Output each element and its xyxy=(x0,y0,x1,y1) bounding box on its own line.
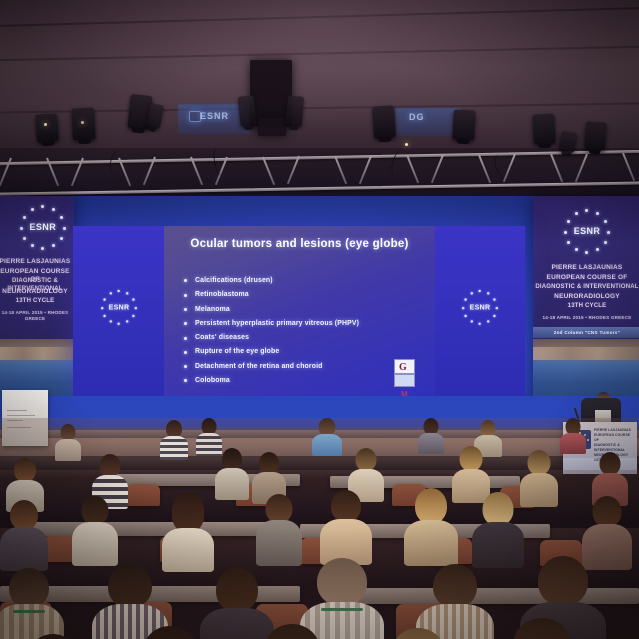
audience-member xyxy=(372,628,464,639)
audience-member xyxy=(312,418,342,454)
slide-bullet: Retinoblastoma xyxy=(183,288,433,302)
stage-light xyxy=(584,121,607,150)
audience-member xyxy=(418,418,444,452)
stage-light xyxy=(452,109,476,140)
person-head xyxy=(14,458,36,482)
lanyard xyxy=(321,608,363,611)
slide-logo-bottom-tile: M xyxy=(394,374,415,387)
lanyard xyxy=(13,610,45,613)
banner-left-line-5: 13TH CYCLE xyxy=(0,298,74,306)
audience-member xyxy=(0,568,64,639)
audience-member xyxy=(320,490,372,564)
person-head xyxy=(10,500,38,530)
projector-lens-housing xyxy=(258,118,286,136)
slide-bullet: Coats' diseases xyxy=(183,331,433,345)
stage-light-lamp-glow xyxy=(405,143,408,146)
banner-left-line-6: 14-18 APRIL 2015 • RHODES GREECE xyxy=(0,310,74,321)
person-head xyxy=(9,568,49,608)
person-head xyxy=(259,452,279,474)
person-torso xyxy=(560,433,586,454)
stage-light xyxy=(35,113,59,142)
person-head xyxy=(143,626,197,639)
esnr-wordmark: ESNR xyxy=(108,303,129,311)
screen-left-flank: ESNR xyxy=(73,226,164,396)
banner-left-line-4: NEURORADIOLOGY xyxy=(0,288,74,296)
person-head xyxy=(82,496,109,525)
person-torso xyxy=(312,434,342,456)
audience-member xyxy=(162,492,214,568)
person-head xyxy=(222,448,242,470)
truss-web xyxy=(287,156,300,185)
esnr-logo-left-banner: ESNR xyxy=(20,204,66,250)
slide-title: Ocular tumors and lesions (eye globe) xyxy=(164,238,435,250)
signage-panel-right xyxy=(395,108,461,136)
esnr-wordmark: ESNR xyxy=(574,226,601,236)
person-torso xyxy=(162,528,214,572)
person-head xyxy=(391,628,445,639)
audience-member xyxy=(256,494,302,564)
stage-light xyxy=(71,107,96,140)
audience-member xyxy=(560,418,586,452)
screen-right-flank: ESNR xyxy=(434,226,525,396)
banner-left: ESNR PIERRE LASJAUNIAS EUROPEAN COURSE O… xyxy=(0,196,74,411)
slide-surface: Ocular tumors and lesions (eye globe) Ca… xyxy=(164,226,435,396)
truss-web xyxy=(262,157,275,186)
person-head xyxy=(100,454,121,477)
banner-right-line-4: NEURORADIOLOGY xyxy=(533,293,639,301)
slide-bullet: Calcifications (drusen) xyxy=(183,274,433,288)
slide-bullet: Rupture of the eye globe xyxy=(183,345,433,359)
person-head xyxy=(483,492,514,526)
person-head xyxy=(264,624,320,639)
person-head xyxy=(108,564,152,608)
person-torso xyxy=(0,527,48,571)
truss-web xyxy=(334,156,347,185)
truss-web xyxy=(359,156,372,185)
truss-rail-bottom xyxy=(0,181,639,196)
audience-member xyxy=(472,492,524,566)
audience-member xyxy=(215,448,249,498)
audience-member xyxy=(160,420,188,458)
slide-corner-logo: G M xyxy=(394,359,415,387)
person-torso xyxy=(418,433,444,454)
banner-right-line-1: PIERRE LASJAUNIAS xyxy=(533,264,639,272)
audience-desk xyxy=(28,522,268,536)
stage-light xyxy=(532,113,556,144)
audience-member xyxy=(244,624,340,639)
person-head xyxy=(216,568,258,612)
audience-member xyxy=(55,424,81,458)
esnr-logo-screen-left: ESNR xyxy=(101,289,137,325)
truss-rail-top xyxy=(0,149,639,165)
stage-light xyxy=(372,105,396,138)
esnr-logo-right-banner: ESNR xyxy=(564,208,610,254)
audience-member xyxy=(490,618,594,639)
stage-light xyxy=(237,95,256,127)
esnr-wordmark: ESNR xyxy=(29,222,56,232)
slide-logo-top-tile: G xyxy=(394,359,415,374)
banner-left-line-1: PIERRE LASJAUNIAS xyxy=(0,258,74,266)
banner-right-line-5: 13TH CYCLE xyxy=(533,303,639,311)
stage-light xyxy=(558,131,577,153)
person-torso xyxy=(215,468,249,500)
truss-web xyxy=(550,154,563,183)
stage-light-lamp-glow xyxy=(44,123,47,126)
back-wall-sign-right: DG xyxy=(409,112,425,122)
person-head xyxy=(172,492,204,532)
banner-right-line-2: EUROPEAN COURSE OF xyxy=(533,274,639,282)
person-head xyxy=(513,618,571,639)
audience-member xyxy=(72,496,118,564)
person-head xyxy=(538,556,588,606)
projection-screen: ESNR ESNR xyxy=(73,226,525,396)
lecture-hall-photo: ESNR DG xyxy=(0,0,639,639)
person-head xyxy=(356,448,377,471)
audience-member xyxy=(124,626,216,639)
audience-area xyxy=(0,418,639,639)
stage-light-lamp-glow xyxy=(81,121,84,124)
truss-web xyxy=(406,155,419,184)
person-head xyxy=(600,452,621,475)
audience-seat xyxy=(126,484,160,506)
person-torso xyxy=(55,439,81,461)
audience-member xyxy=(404,488,458,564)
person-torso xyxy=(404,520,458,566)
lighting-truss xyxy=(0,140,639,202)
person-head xyxy=(331,490,361,522)
audience-member xyxy=(10,634,96,639)
truss-web xyxy=(431,155,444,184)
person-head xyxy=(433,564,477,608)
truss-web xyxy=(478,155,491,184)
slide-logo-g-glyph: G xyxy=(399,362,407,373)
audience-member xyxy=(520,450,558,504)
person-torso xyxy=(520,473,558,507)
person-head xyxy=(415,488,447,524)
esnr-logo-screen-right: ESNR xyxy=(462,289,498,325)
stage-light xyxy=(286,95,305,126)
person-head xyxy=(593,496,622,527)
slide-bullet: Persistent hyperplastic primary vitreous… xyxy=(183,317,433,331)
person-torso xyxy=(472,522,524,568)
back-wall-sign-left: ESNR xyxy=(200,111,229,121)
slide-bullet: Melanoma xyxy=(183,303,433,317)
banner-right-strip: 2nd Column "CNS Tumors" xyxy=(533,327,639,338)
person-head xyxy=(528,450,551,475)
banner-right-line-6: 14-18 APRIL 2015 • RHODES GREECE xyxy=(533,315,639,321)
person-head xyxy=(266,494,293,523)
person-torso xyxy=(256,520,302,566)
person-head xyxy=(317,558,367,606)
truss-web xyxy=(575,154,588,183)
person-head xyxy=(28,634,78,639)
person-head xyxy=(460,446,483,471)
person-torso xyxy=(72,522,118,566)
audience-member xyxy=(0,500,48,568)
banner-right: ESNR PIERRE LASJAUNIAS EUROPEAN COURSE O… xyxy=(533,196,639,411)
banner-right-line-3: DIAGNOSTIC & INTERVENTIONAL xyxy=(533,284,639,292)
esnr-wordmark: ESNR xyxy=(469,303,490,311)
person-torso xyxy=(160,436,188,460)
truss-web xyxy=(622,153,635,182)
